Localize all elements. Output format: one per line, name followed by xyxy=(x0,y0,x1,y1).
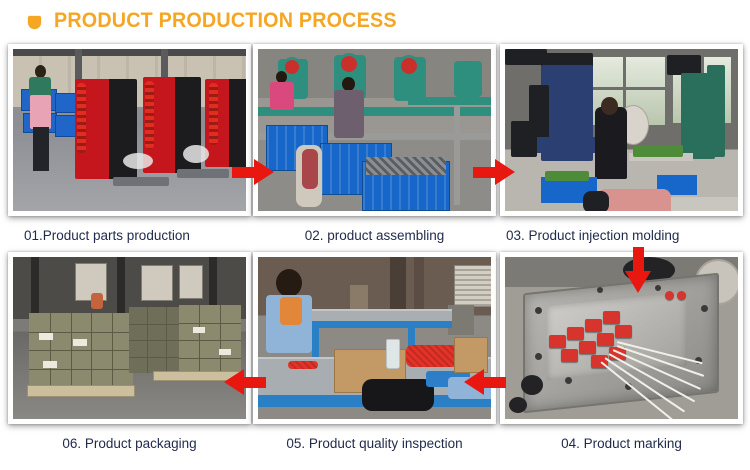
process-step-6: 06. Product packaging xyxy=(8,252,251,451)
product-packaging-photo xyxy=(13,257,246,419)
page-header: PRODUCT PRODUCTION PROCESS xyxy=(0,0,750,42)
step-caption: 03. Product injection molding xyxy=(500,228,743,243)
arrow-step5-to-step6 xyxy=(224,369,266,395)
step-caption: 01.Product parts production xyxy=(8,228,251,243)
photo-frame-step-1 xyxy=(8,44,251,216)
photo-frame-step-2 xyxy=(253,44,496,216)
photo-frame-step-3 xyxy=(500,44,743,216)
photo-frame-step-4 xyxy=(500,252,743,424)
product-marking-photo xyxy=(505,257,738,419)
photo-frame-step-6 xyxy=(8,252,251,424)
diamond-bullet-icon xyxy=(28,16,41,29)
arrow-step3-to-step4 xyxy=(625,247,651,293)
process-step-1: 01.Product parts production xyxy=(8,44,251,243)
step-caption: 02. product assembling xyxy=(253,228,496,243)
process-step-2: 02. product assembling xyxy=(253,44,496,243)
product-production-process-page: PRODUCT PRODUCTION PROCESS xyxy=(0,0,750,470)
injection-molding-photo xyxy=(505,49,738,211)
arrow-step2-to-step3 xyxy=(473,159,515,185)
process-step-5: 05. Product quality inspection xyxy=(253,252,496,451)
step-caption: 06. Product packaging xyxy=(8,436,251,451)
step-caption: 04. Product marking xyxy=(500,436,743,451)
arrow-step1-to-step2 xyxy=(232,159,274,185)
parts-production-photo xyxy=(13,49,246,211)
quality-inspection-photo xyxy=(258,257,491,419)
step-caption: 05. Product quality inspection xyxy=(253,436,496,451)
arrow-step4-to-step5 xyxy=(464,369,506,395)
process-step-4: 04. Product marking xyxy=(500,252,743,451)
product-assembling-photo xyxy=(258,49,491,211)
page-title: PRODUCT PRODUCTION PROCESS xyxy=(54,9,397,33)
photo-frame-step-5 xyxy=(253,252,496,424)
process-step-3: 03. Product injection molding xyxy=(500,44,743,243)
process-grid: 01.Product parts production xyxy=(0,42,750,470)
